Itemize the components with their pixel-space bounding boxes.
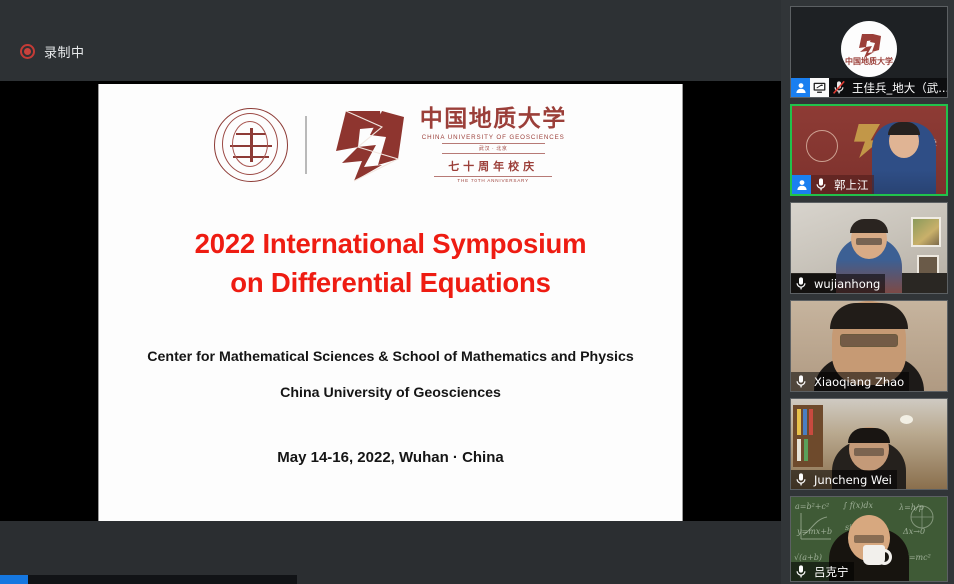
record-dot-icon (20, 44, 35, 59)
avatar-caption: 中国地质大学 (845, 58, 893, 67)
participant-tile[interactable]: Juncheng Wei (790, 398, 948, 490)
participant-name: Xiaoqiang Zhao (814, 375, 904, 389)
participant-filmstrip[interactable]: 中国地质大学 王 (781, 0, 954, 584)
person-badge-icon (792, 175, 811, 194)
participant-label: 郭上江 (792, 175, 874, 194)
slide-date-location: May 14-16, 2022, Wuhan · China (99, 449, 682, 466)
slide-title: 2022 International Symposium on Differen… (99, 224, 682, 302)
coffee-mug (863, 545, 885, 565)
university-logo-block: 中国地质大学 CHINA UNIVERSITY OF GEOSCIENCES 武… (99, 104, 682, 186)
participant-name: 郭上江 (834, 177, 869, 193)
presentation-slide: 中国地质大学 CHINA UNIVERSITY OF GEOSCIENCES 武… (98, 84, 683, 521)
recording-indicator[interactable]: 录制中 (20, 42, 85, 61)
mic-on-icon (791, 372, 811, 391)
participant-tile[interactable]: wujianhong (790, 202, 948, 294)
participant-name: 王佳兵_地大（武... (852, 80, 948, 96)
anniversary-cn: 七十周年校庆 (420, 158, 567, 174)
mic-muted-icon (829, 78, 849, 97)
participant-tile[interactable]: 中国地质大学 王 (790, 6, 948, 98)
mic-on-icon (791, 470, 811, 489)
recording-label: 录制中 (44, 42, 85, 61)
participant-name: wujianhong (814, 277, 880, 291)
logo-divider (305, 116, 306, 174)
seventy-anniversary-icon (324, 107, 410, 183)
slide-title-line1: 2022 International Symposium (99, 224, 682, 263)
participant-label: Xiaoqiang Zhao (791, 372, 909, 391)
participant-name: 吕克宁 (814, 564, 849, 580)
shared-screen-stage[interactable]: 中国地质大学 CHINA UNIVERSITY OF GEOSCIENCES 武… (0, 81, 781, 521)
meeting-top-bar: 录制中 (0, 0, 781, 81)
cug-seal-icon (214, 108, 288, 182)
slide-title-line2: on Differential Equations (99, 263, 682, 302)
participant-label: Juncheng Wei (791, 470, 897, 489)
screen-share-icon (810, 78, 829, 97)
anniversary-avatar-icon (854, 32, 884, 58)
avatar: 中国地质大学 (841, 21, 897, 77)
meeting-window: 录制中 (0, 0, 954, 584)
mic-on-icon (791, 562, 811, 581)
slide-subtitle-university: China University of Geosciences (99, 385, 682, 401)
participant-name: Juncheng Wei (814, 473, 892, 487)
horizontal-scrollbar[interactable] (0, 575, 297, 584)
slide-subtitle-organizer: Center for Mathematical Sciences & Schoo… (99, 349, 682, 365)
university-name-cn: 中国地质大学 (420, 107, 567, 131)
university-name-en: CHINA UNIVERSITY OF GEOSCIENCES (420, 134, 567, 141)
participant-tile[interactable]: a=b²+c² ∫ f(x)dx λ=h/p y=mx+b sin θ Δx→0… (790, 496, 948, 582)
university-location: 武汉 · 北京 (442, 143, 545, 154)
participant-label: wujianhong (791, 274, 885, 293)
participant-label: 吕克宁 (791, 562, 854, 581)
participant-tile[interactable]: Xiaoqiang Zhao (790, 300, 948, 392)
person-badge-icon (791, 78, 810, 97)
participant-tile[interactable]: 地质大学 郭上江 (790, 104, 948, 196)
participant-label: 王佳兵_地大（武... (791, 78, 948, 97)
scrollbar-thumb[interactable] (0, 575, 28, 584)
mic-on-icon (791, 274, 811, 293)
university-name-block: 中国地质大学 CHINA UNIVERSITY OF GEOSCIENCES 武… (420, 107, 567, 183)
mic-on-icon (811, 175, 831, 194)
anniversary-en: THE 70TH ANNIVERSARY (434, 176, 552, 183)
